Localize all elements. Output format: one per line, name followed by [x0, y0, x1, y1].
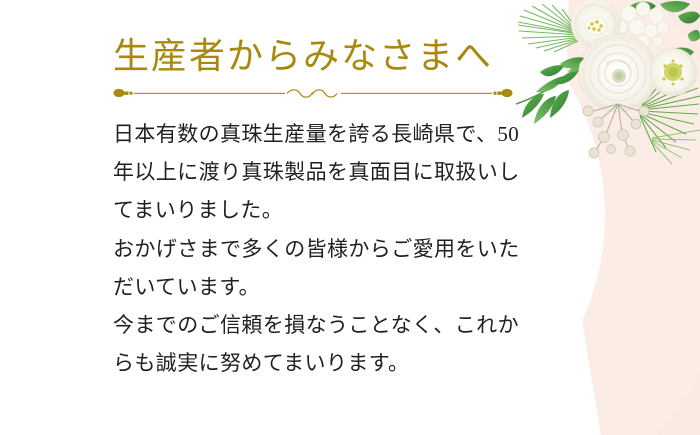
message-paragraph-3: 今までのご信頼を損なうことなく、これからも誠実に努めてまいります。 — [113, 306, 523, 382]
page-title: 生産者からみなさまへ — [113, 34, 523, 79]
decorative-divider — [113, 85, 513, 101]
producer-message-banner: 生産者からみなさまへ — [0, 0, 700, 435]
message-paragraph-1: 日本有数の真珠生産量を誇る長崎県で、50年以上に渡り真珠製品を真面目に取扱いして… — [113, 115, 523, 230]
message-paragraph-2: おかげさまで多くの皆様からご愛用をいただいています。 — [113, 230, 523, 306]
message-body: 日本有数の真珠生産量を誇る長崎県で、50年以上に渡り真珠製品を真面目に取扱いして… — [113, 115, 523, 383]
message-content: 生産者からみなさまへ — [113, 34, 523, 383]
